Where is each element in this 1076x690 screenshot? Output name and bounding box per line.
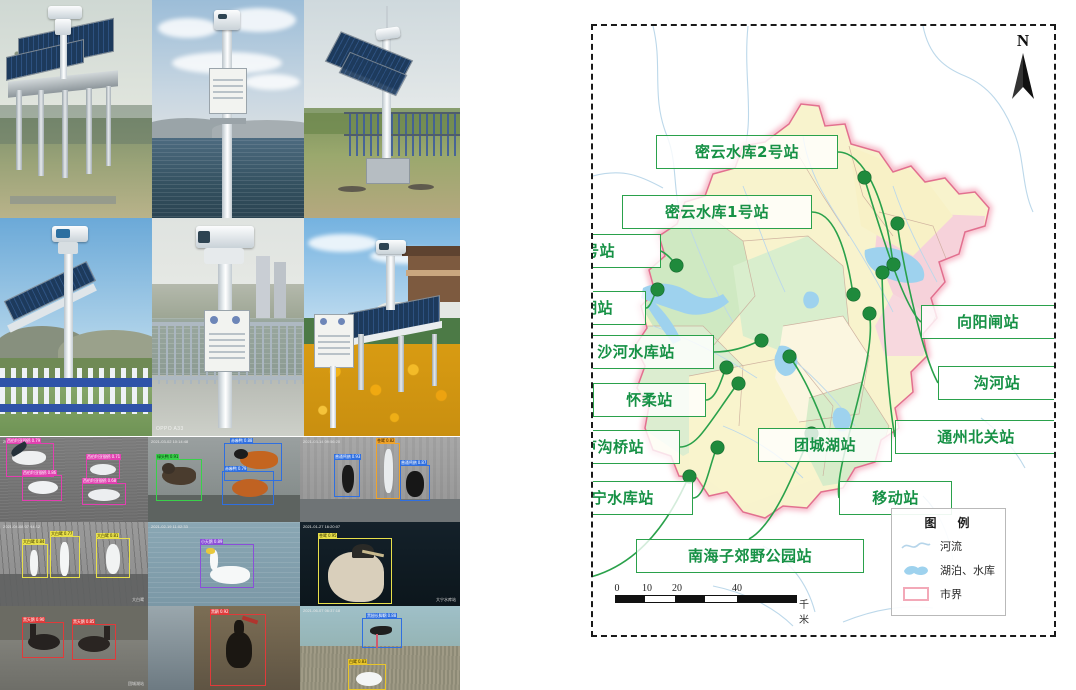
detection-label: 西伯利亚银鸥 0.86 xyxy=(22,470,57,476)
map-scalebar: 0 10 20 40 千米 xyxy=(615,583,765,603)
station-dot-daning[interactable] xyxy=(711,441,724,454)
bird-detection-tile: 2021-02-19 11:02:33 小天鹅 0.89 xyxy=(148,522,300,606)
photo-row-cameras-top xyxy=(0,0,460,218)
detection-label: 绿头鸭 0.91 xyxy=(156,454,179,460)
scale-tick: 10 xyxy=(642,583,652,594)
detection-label: 赤麻鸭 0.79 xyxy=(224,466,247,472)
detection-label: 苍鹭 0.95 xyxy=(318,533,337,539)
station-dot-mobile[interactable] xyxy=(863,307,876,320)
detection-timestamp: 2021-03-02 10:14:48 xyxy=(151,439,188,444)
station-label-xiangyangzha[interactable]: 向阳闸站 xyxy=(921,305,1054,339)
river-line-icon xyxy=(901,538,931,554)
station-dot-yeyahu[interactable] xyxy=(651,283,664,296)
detection-label: 西伯利亚银鸥 0.71 xyxy=(86,454,121,460)
station-label-shahe[interactable]: 沙河水库站 xyxy=(593,335,714,369)
camera-head-icon xyxy=(48,6,82,19)
photo-cam-solar-mountain xyxy=(0,218,152,436)
station-label-miyun-2[interactable]: 密云水库2号站 xyxy=(656,135,838,169)
bird-detection-tile: 2021-06-07 06:37:18 黑翅长脚鹬 0.88 白鹭 0.83 xyxy=(300,606,460,690)
scale-tick: 40 xyxy=(732,583,742,594)
station-dot-miyun-2[interactable] xyxy=(887,258,900,271)
detection-label: 苍鹭 0.82 xyxy=(376,438,395,444)
detection-label: 白鹭 0.83 xyxy=(348,659,367,665)
figure-root: OPPO A33 xyxy=(0,0,1076,690)
photo-cam-railing-city: OPPO A33 xyxy=(152,218,304,436)
station-dot-tuanchenghu[interactable] xyxy=(783,350,796,363)
detection-caption: 大白鹭 xyxy=(132,597,144,603)
detection-label: 黑翅长脚鹬 0.88 xyxy=(366,613,397,619)
legend-row-lake: 湖泊、水库 xyxy=(892,558,1005,582)
station-label-guanting-1[interactable]: 官厅水库1号站 xyxy=(593,234,661,268)
detection-label: 大白鹭 0.84 xyxy=(22,539,45,545)
station-label-nanhaizi[interactable]: 南海子郊野公园站 xyxy=(636,539,864,573)
station-dot-lugouqiao[interactable] xyxy=(732,377,745,390)
detection-caption: 大宁水库站 xyxy=(436,597,456,603)
legend-label-boundary: 市界 xyxy=(940,586,962,602)
camera-head-icon xyxy=(214,10,240,30)
bird-detection-tile: 2021-04-08 07:44:12 大白鹭 0.84 大白鹭 0.77 大白… xyxy=(0,522,148,606)
detection-label: 普通鸬鹚 0.93 xyxy=(334,454,361,460)
north-arrow-label: N xyxy=(1006,32,1040,49)
scale-unit-label: 千米 xyxy=(799,596,809,626)
scale-tick: 0 xyxy=(615,583,620,594)
station-label-yeyahu[interactable]: 野鸭湖站 xyxy=(593,291,646,325)
station-dot-guanting-1[interactable] xyxy=(670,259,683,272)
station-label-tongzhou-beiguan[interactable]: 通州北关站 xyxy=(895,420,1054,454)
detection-label: 西伯利亚银鸥 0.68 xyxy=(82,478,117,484)
photo-cam-solar-tracker xyxy=(304,0,460,218)
legend-label-lake: 湖泊、水库 xyxy=(940,562,995,578)
photo-row-bird-detections: 2021-01-12 08:31:06 西伯利亚银鸥 0.79 西伯利亚银鸥 0… xyxy=(0,437,460,690)
scale-bar-graphic xyxy=(615,595,737,603)
station-label-huairou[interactable]: 怀柔站 xyxy=(593,383,706,417)
lake-polygon-icon xyxy=(901,562,931,578)
station-dot-miyun-1[interactable] xyxy=(847,288,860,301)
station-dot-shahe[interactable] xyxy=(755,334,768,347)
north-arrow: N xyxy=(1006,32,1040,104)
equipment-plate xyxy=(209,68,247,114)
station-dot-gouhe[interactable] xyxy=(891,217,904,230)
station-dot-huairou[interactable] xyxy=(720,361,733,374)
photo-mosaic-panel: OPPO A33 xyxy=(0,0,460,690)
bird-detection-tile: 2021-03-14 09:56:20 普通鸬鹚 0.93 苍鹭 0.82 普通… xyxy=(300,437,460,522)
detection-caption: 团城湖站 xyxy=(128,681,144,687)
detection-timestamp: 2021-01-27 16:20:07 xyxy=(303,524,340,529)
detection-timestamp: 2021-06-07 06:37:18 xyxy=(303,608,340,613)
station-label-tuanchenghu[interactable]: 团城湖站 xyxy=(758,428,892,462)
station-dot-tongzhou-beiguan[interactable] xyxy=(876,266,889,279)
detection-label: 黑天鹅 0.90 xyxy=(22,617,45,623)
detection-label: 小天鹅 0.89 xyxy=(200,539,223,545)
map-legend: 图 例 河流 湖泊、水库 xyxy=(891,508,1006,616)
photo-cam-solar-platform xyxy=(0,0,152,218)
legend-title: 图 例 xyxy=(892,509,1005,534)
bird-detection-tile: 2021-04-22 08:12:40 黑鹳 0.92 xyxy=(148,606,300,690)
station-label-miyun-1[interactable]: 密云水库1号站 xyxy=(622,195,812,229)
station-label-daning[interactable]: 大宁水库站 xyxy=(593,481,693,515)
photo-cam-solar-garden xyxy=(304,218,460,436)
legend-row-river: 河流 xyxy=(892,534,1005,558)
detection-label: 黑鹳 0.92 xyxy=(210,609,229,615)
detection-label: 普通鸬鹚 0.87 xyxy=(400,460,427,466)
bird-detection-tile: 2021-01-12 08:31:06 西伯利亚银鸥 0.79 西伯利亚银鸥 0… xyxy=(0,437,148,522)
legend-label-river: 河流 xyxy=(940,538,962,554)
city-boundary-rect-icon xyxy=(901,586,931,602)
bird-detection-tile: 2021-01-27 16:20:07 苍鹭 0.95 大宁水库站 xyxy=(300,522,460,606)
detection-label: 黑天鹅 0.85 xyxy=(72,619,95,625)
bird-detection-tile: 2021-05-03 14:08:51 黑天鹅 0.90 黑天鹅 0.85 团城… xyxy=(0,606,148,690)
station-label-gouhe[interactable]: 沟河站 xyxy=(938,366,1054,400)
detection-timestamp: 2021-02-19 11:02:33 xyxy=(151,524,188,529)
map-panel: 密云水库2号站 密云水库1号站 官厅水库1号站 野鸭湖站 沙河水库站 怀柔站 卢… xyxy=(460,0,1076,690)
scale-tick: 20 xyxy=(672,583,682,594)
photo-watermark: OPPO A33 xyxy=(156,426,184,432)
photo-row-cameras-mid: OPPO A33 xyxy=(0,218,460,436)
bird-detection-tile: 2021-03-02 10:14:48 绿头鸭 0.91 赤麻鸭 0.88 赤麻… xyxy=(148,437,300,522)
legend-row-boundary: 市界 xyxy=(892,582,1005,606)
detection-label: 大白鹭 0.81 xyxy=(96,533,119,539)
map-frame: 密云水库2号站 密云水库1号站 官厅水库1号站 野鸭湖站 沙河水库站 怀柔站 卢… xyxy=(591,24,1056,637)
detection-label: 大白鹭 0.77 xyxy=(50,531,73,537)
station-label-lugouqiao[interactable]: 卢沟桥站 xyxy=(593,430,680,464)
detection-label: 赤麻鸭 0.88 xyxy=(230,438,253,444)
photo-cam-pole-lake xyxy=(152,0,304,218)
station-dot-xiangyangzha[interactable] xyxy=(858,171,871,184)
